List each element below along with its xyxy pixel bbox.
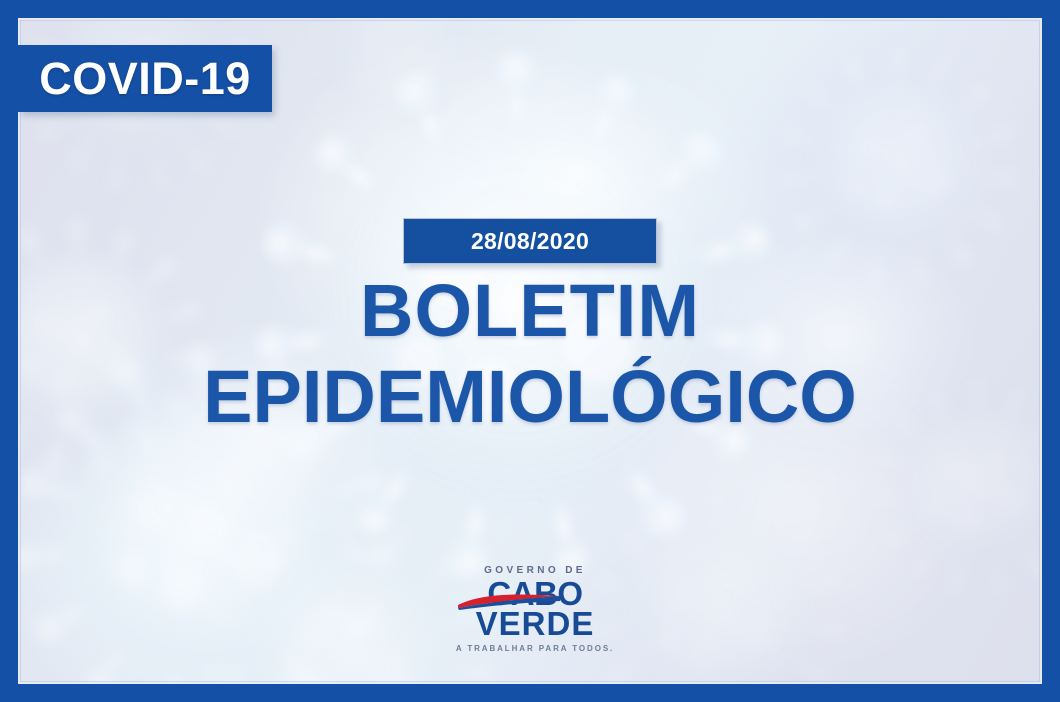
covid-19-badge-label: COVID-19 [39, 56, 251, 101]
logo-tagline: A TRABALHAR PARA TODOS. [440, 645, 630, 653]
frame-bottom-band [0, 684, 1060, 702]
poster-title: BOLETIM EPIDEMIOLÓGICO [18, 274, 1042, 434]
frame-right-band [1042, 0, 1060, 702]
logo-word-cabo: CABO [440, 579, 630, 609]
logo-wordmark: CABO [440, 579, 630, 609]
frame-left-band [0, 0, 18, 702]
date-badge: 28/08/2020 [403, 218, 657, 264]
frame-top-band [0, 0, 1060, 18]
title-line-epidemiologico: EPIDEMIOLÓGICO [18, 360, 1042, 434]
government-logo: GOVERNO DE CABO VERDE A TRABALHAR PARA T… [440, 566, 630, 653]
covid-19-badge: COVID-19 [18, 45, 272, 112]
covid-bulletin-poster: COVID-19 28/08/2020 BOLETIM EPIDEMIOLÓGI… [0, 0, 1060, 702]
logo-word-verde: VERDE [440, 609, 630, 639]
date-badge-label: 28/08/2020 [471, 230, 589, 253]
title-line-boletim: BOLETIM [18, 274, 1042, 348]
